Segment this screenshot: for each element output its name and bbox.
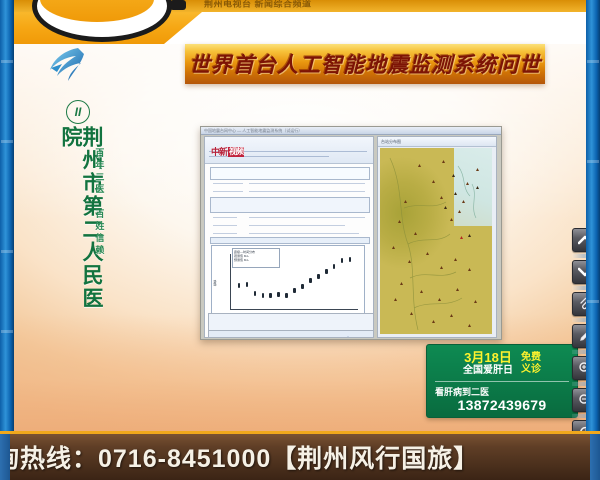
chart-data-point	[341, 258, 344, 263]
chart-data-point	[293, 288, 296, 293]
hospital-sponsor-sidebar: II 荆州市第二人民医院 百年二医 百姓信赖	[40, 100, 126, 330]
chart-data-point	[349, 257, 352, 262]
video-watermark: 中新 视频	[211, 147, 244, 157]
chart-data-point	[333, 264, 336, 269]
chart-data-point	[301, 284, 304, 289]
ticker-left-edge	[0, 434, 10, 480]
ad-free-line2: 义诊	[521, 364, 541, 376]
chart-data-point	[309, 278, 312, 283]
left-blue-rail	[0, 0, 14, 480]
screenshot-window-title: 中国地震台网中心 — 人工智能地震监测系统（试运行）	[204, 127, 302, 134]
ticker-right-edge	[590, 434, 600, 480]
right-blue-rail	[586, 0, 600, 480]
watermark-badge: 视频	[228, 147, 244, 157]
top-banner-text: 荆州电视台 新闻综合频道	[204, 0, 464, 10]
document-status-strip	[208, 330, 374, 338]
banner-dot	[170, 0, 186, 10]
chart-data-point	[262, 293, 265, 298]
ad-free-line1: 免费	[521, 352, 541, 364]
top-banner-white-panel	[164, 12, 586, 44]
bottom-ticker-bar: 询热线：0716-8451000【荆州风行国旅】	[0, 431, 600, 480]
ad-date-block: 3月18日 全国爱肝日	[463, 351, 513, 377]
embedded-computer-screenshot: 中国地震台网中心 — 人工智能地震监测系统（试运行） 中新 视频	[200, 126, 502, 340]
hospital-badge-icon: II	[66, 100, 90, 124]
chart-data-point	[269, 293, 272, 298]
chart-plot-area	[230, 254, 358, 310]
waveform-sparkline-icon	[337, 336, 363, 338]
chart-data-point	[254, 291, 257, 296]
chart-data-point	[246, 282, 249, 287]
chart-data-point	[238, 283, 241, 288]
chart-data-point	[325, 269, 328, 274]
document-footer-strip	[208, 313, 374, 331]
watermark-text: 中新	[211, 148, 227, 157]
top-banner: 荆州电视台 新闻综合频道	[14, 0, 586, 44]
page-title: 世界首台人工智能地震监测系统问世	[189, 49, 541, 79]
terrain-map-canvas[interactable]	[380, 148, 492, 334]
map-pane: 台站分布图	[377, 136, 497, 338]
document-pane: 中新 视频 震级—时间分布 观测值 M-L 预测值 M-L	[204, 136, 374, 338]
ticker-text: 询热线：0716-8451000【荆州风行国旅】	[0, 439, 479, 475]
map-toolbar: 台站分布图	[378, 137, 497, 147]
chart-y-axis-label: 幅值	[213, 280, 217, 286]
ad-divider	[435, 381, 569, 382]
screenshot-titlebar: 中国地震台网中心 — 人工智能地震监测系统（试运行）	[201, 127, 501, 135]
ad-event: 全国爱肝日	[463, 365, 513, 377]
chart-data-point	[317, 274, 320, 279]
channel-wave-logo-icon	[40, 40, 88, 88]
hospital-slogan: 百年二医 百姓信赖	[92, 148, 106, 257]
clinic-advertisement[interactable]: 3月18日 全国爱肝日 免费 义诊 看肝病到二医 13872439679	[426, 344, 578, 418]
ad-phone-number: 13872439679	[427, 397, 577, 413]
news-headline-banner: 世界首台人工智能地震监测系统问世	[185, 44, 545, 84]
ad-date: 3月18日	[463, 351, 513, 365]
ad-free-block: 免费 义诊	[521, 352, 541, 376]
tv-broadcast-screen: 荆州电视台 新闻综合频道 世界首台人工智能地震监测系统问世 II 荆州市第二人民…	[0, 0, 600, 480]
map-rivers	[380, 148, 492, 334]
chart-data-point	[285, 293, 288, 298]
chart-data-point	[277, 292, 280, 297]
ad-top-row: 3月18日 全国爱肝日 免费 义诊	[427, 349, 577, 379]
